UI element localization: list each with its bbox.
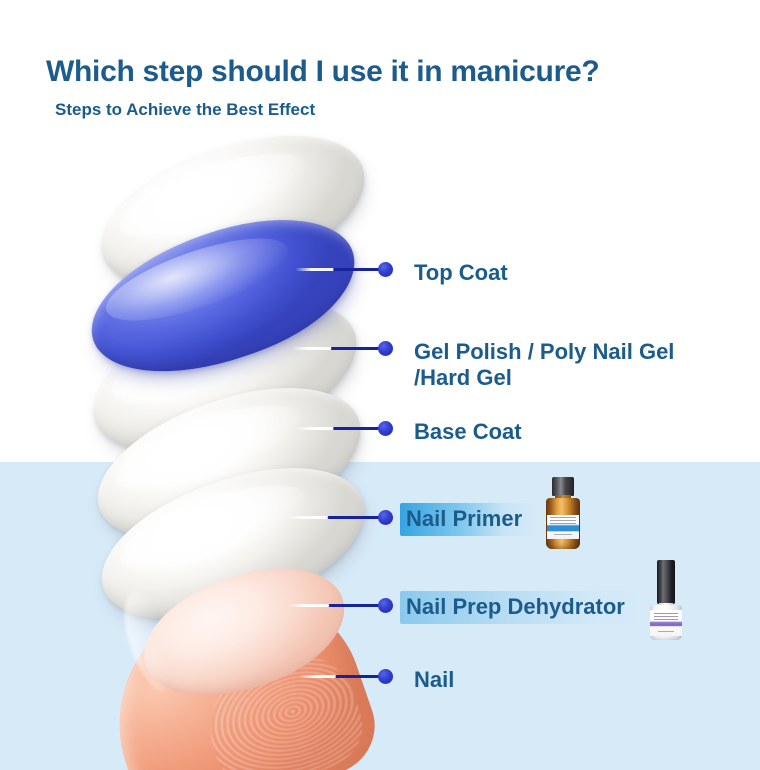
leader-dot-top-coat — [378, 262, 393, 277]
callout-gel-polish: Gel Polish / Poly Nail Gel /Hard Gel — [408, 336, 682, 395]
callout-top-coat: Top Coat — [408, 257, 516, 290]
primer-bottle-label — [547, 515, 579, 539]
leader-dot-primer — [378, 510, 393, 525]
leader-line-primer — [286, 516, 380, 519]
nail-primer-bottle-image — [543, 477, 583, 549]
leader-line-top-coat — [296, 268, 380, 271]
primer-bottle-cap — [552, 477, 574, 496]
infographic-poster: Which step should I use it in manicure? … — [0, 0, 760, 770]
callout-nail-primer: Nail Primer — [400, 503, 539, 536]
leader-line-gel-polish — [292, 347, 380, 350]
leader-dot-gel-polish — [378, 341, 393, 356]
leader-line-base-coat — [296, 427, 380, 430]
nail-dehydrator-bottle-image — [648, 560, 684, 640]
callout-base-coat: Base Coat — [408, 416, 530, 449]
nail-layer-stack — [0, 0, 420, 770]
fingertip-illustration — [112, 568, 362, 770]
leader-line-nail — [300, 675, 380, 678]
dehydrator-bottle-cap — [657, 560, 675, 604]
leader-line-dehydrator — [288, 604, 380, 607]
leader-dot-dehydrator — [378, 598, 393, 613]
dehydrator-bottle-label — [650, 610, 682, 636]
callout-nail-prep-dehydrator: Nail Prep Dehydrator — [400, 591, 659, 624]
callout-nail: Nail — [408, 664, 462, 697]
leader-dot-nail — [378, 669, 393, 684]
leader-dot-base-coat — [378, 421, 393, 436]
